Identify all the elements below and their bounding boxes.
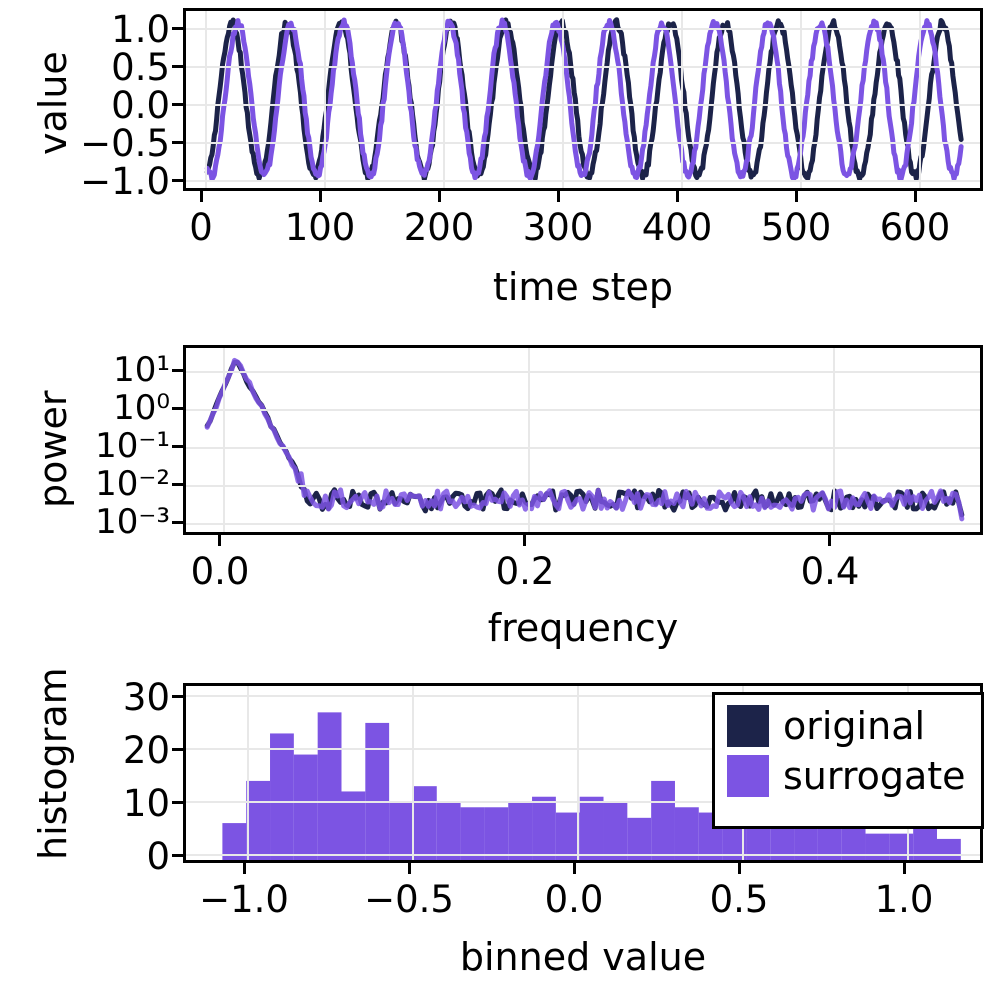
timeseries-xtick-500: 500 bbox=[736, 209, 856, 246]
timeseries-xtick-200: 200 bbox=[379, 209, 499, 246]
legend-label-original: original bbox=[783, 706, 925, 746]
spectrum-ytick-1em3: 10⁻³ bbox=[58, 505, 170, 539]
histogram-bar bbox=[318, 712, 342, 860]
histogram-ytick-30: 30 bbox=[55, 679, 170, 716]
gridline bbox=[412, 686, 414, 860]
legend-swatch-surrogate bbox=[727, 755, 769, 797]
gridline bbox=[443, 11, 445, 188]
histogram-bar bbox=[437, 802, 461, 860]
gridline bbox=[681, 11, 683, 188]
spectrum-ytickmark bbox=[172, 521, 183, 524]
legend-entry-surrogate: surrogate bbox=[727, 755, 967, 797]
timeseries-ytickmark bbox=[172, 179, 183, 182]
histogram-bar bbox=[365, 723, 389, 860]
gridline bbox=[186, 142, 980, 144]
histogram-bar bbox=[937, 839, 961, 860]
histogram-xtickmark bbox=[738, 863, 741, 874]
gridline bbox=[186, 180, 980, 182]
spectrum-ytick-1e1: 10¹ bbox=[58, 353, 170, 387]
spectrum-xtick-0: 0.0 bbox=[160, 553, 280, 590]
gridline bbox=[833, 348, 835, 532]
histogram-ytick-20: 20 bbox=[55, 732, 170, 769]
legend-entry-original: original bbox=[727, 705, 967, 747]
histogram-bar bbox=[580, 797, 604, 860]
timeseries-xtickmark bbox=[795, 191, 798, 202]
timeseries-ytickmark bbox=[172, 103, 183, 106]
gridline bbox=[528, 348, 530, 532]
spectrum-ytick-1em2: 10⁻² bbox=[58, 467, 170, 501]
timeseries-ytick-5: −1.0 bbox=[55, 163, 170, 200]
gridline bbox=[800, 11, 802, 188]
gridline bbox=[205, 11, 207, 188]
histogram-xtick-0: 0.0 bbox=[514, 881, 634, 918]
legend: original surrogate bbox=[712, 692, 984, 829]
surrogate-data-figure: value 1.0 0.5 0.0 −0.5 −1.0 bbox=[0, 0, 1000, 1000]
timeseries-ytickmark bbox=[172, 65, 183, 68]
histogram-xlabel: binned value bbox=[383, 938, 783, 976]
timeseries-xtickmark bbox=[914, 191, 917, 202]
histogram-bar bbox=[508, 802, 532, 860]
spectrum-ytick-text: 10⁰ bbox=[113, 388, 170, 428]
histogram-ytickmark bbox=[172, 695, 183, 698]
timeseries-xtick-0: 0 bbox=[141, 209, 261, 246]
histogram-bar bbox=[413, 786, 437, 860]
histogram-ytickmark bbox=[172, 854, 183, 857]
timeseries-xtick-600: 600 bbox=[855, 209, 975, 246]
gridline bbox=[186, 104, 980, 106]
timeseries-xtick-100: 100 bbox=[260, 209, 380, 246]
gridline bbox=[186, 485, 980, 487]
timeseries-xtickmark bbox=[557, 191, 560, 202]
histogram-xtick-m05: −0.5 bbox=[349, 881, 469, 918]
legend-swatch-original bbox=[727, 705, 769, 747]
gridline bbox=[186, 447, 980, 449]
gridline bbox=[577, 686, 579, 860]
spectrum-ytickmark bbox=[172, 369, 183, 372]
histogram-ytick-10: 10 bbox=[55, 785, 170, 822]
timeseries-xtickmark bbox=[438, 191, 441, 202]
spectrum-ytick-1em1: 10⁻¹ bbox=[58, 429, 170, 463]
histogram-bar bbox=[270, 733, 294, 860]
histogram-ytick-0: 0 bbox=[55, 838, 170, 875]
spectrum-xtickmark bbox=[828, 535, 831, 546]
timeseries-ytick-2: 0.5 bbox=[55, 49, 170, 86]
histogram-xtick-m1: −1.0 bbox=[184, 881, 304, 918]
timeseries-traces bbox=[186, 11, 980, 188]
gridline bbox=[919, 11, 921, 188]
spectrum-ytick-1e0: 10⁰ bbox=[58, 391, 170, 425]
histogram-xtickmark bbox=[903, 863, 906, 874]
histogram-xtickmark bbox=[243, 863, 246, 874]
timeseries-xtickmark bbox=[319, 191, 322, 202]
histogram-bar bbox=[484, 807, 508, 860]
timeseries-xlabel: time step bbox=[383, 268, 783, 306]
gridline bbox=[186, 66, 980, 68]
histogram-bar bbox=[389, 802, 413, 860]
histogram-bar bbox=[532, 797, 556, 860]
timeseries-ytick-1: 1.0 bbox=[55, 11, 170, 48]
spectrum-plot-area bbox=[183, 345, 983, 535]
timeseries-ytickmark bbox=[172, 27, 183, 30]
gridline bbox=[186, 28, 980, 30]
histogram-xtickmark bbox=[408, 863, 411, 874]
spectrum-ytickmark bbox=[172, 407, 183, 410]
spectrum-xlabel: frequency bbox=[383, 609, 783, 647]
spectrum-xtick-02: 0.2 bbox=[465, 553, 585, 590]
gridline bbox=[223, 348, 225, 532]
spectrum-ytick-text: 10⁻³ bbox=[95, 502, 170, 542]
timeseries-xtick-400: 400 bbox=[617, 209, 737, 246]
gridline bbox=[186, 371, 980, 373]
histogram-ytickmark bbox=[172, 801, 183, 804]
spectrum-xtick-04: 0.4 bbox=[770, 553, 890, 590]
gridline bbox=[186, 854, 980, 856]
gridline bbox=[324, 11, 326, 188]
histogram-bar bbox=[294, 755, 318, 860]
spectrum-ytick-text: 10⁻² bbox=[95, 464, 170, 504]
histogram-bar bbox=[651, 781, 675, 860]
legend-label-surrogate: surrogate bbox=[783, 756, 966, 796]
histogram-bar bbox=[461, 807, 485, 860]
timeseries-xtickmark bbox=[676, 191, 679, 202]
spectrum-xtickmark bbox=[523, 535, 526, 546]
histogram-xtick-1: 1.0 bbox=[844, 881, 964, 918]
timeseries-xtick-300: 300 bbox=[498, 209, 618, 246]
timeseries-xtickmark bbox=[200, 191, 203, 202]
gridline bbox=[247, 686, 249, 860]
spectrum-xtickmark bbox=[218, 535, 221, 546]
spectrum-ytick-text: 10⁻¹ bbox=[95, 426, 170, 466]
spectrum-ytick-text: 10¹ bbox=[113, 350, 170, 390]
spectrum-ytickmark bbox=[172, 445, 183, 448]
gridline bbox=[562, 11, 564, 188]
timeseries-plot-area bbox=[183, 8, 983, 191]
histogram-xtickmark bbox=[573, 863, 576, 874]
histogram-bar bbox=[866, 834, 890, 860]
timeseries-ytick-3: 0.0 bbox=[55, 87, 170, 124]
histogram-bar bbox=[675, 807, 699, 860]
gridline bbox=[186, 523, 980, 525]
histogram-bar bbox=[604, 802, 628, 860]
spectrum-traces bbox=[186, 348, 980, 532]
timeseries-ytick-4: −0.5 bbox=[55, 125, 170, 162]
histogram-ytickmark bbox=[172, 748, 183, 751]
spectrum-ytickmark bbox=[172, 483, 183, 486]
histogram-bar bbox=[246, 781, 270, 860]
histogram-xtick-05: 0.5 bbox=[679, 881, 799, 918]
timeseries-ytickmark bbox=[172, 141, 183, 144]
histogram-bar bbox=[889, 834, 913, 860]
gridline bbox=[186, 409, 980, 411]
